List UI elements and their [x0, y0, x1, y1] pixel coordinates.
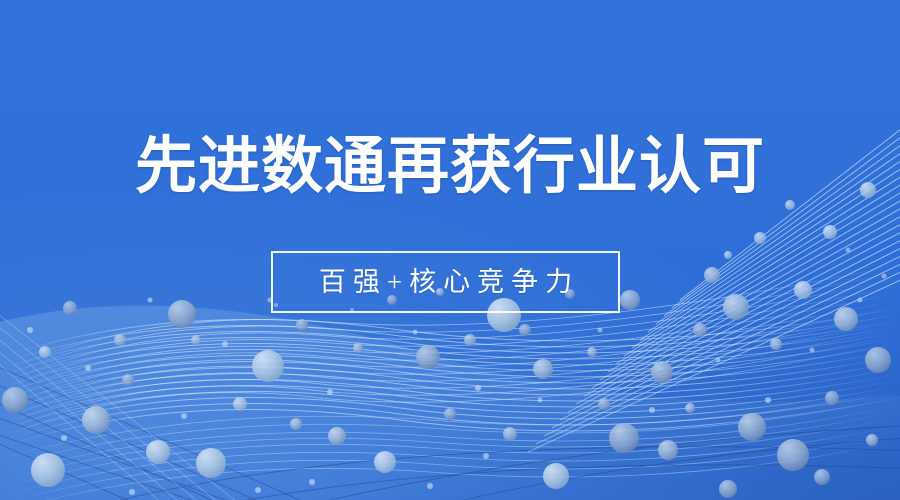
subtitle-text: 百强+核心竞争力: [312, 269, 579, 296]
banner-content: 先进数通再获行业认可 百强+核心竞争力: [0, 0, 900, 500]
promo-banner: 先进数通再获行业认可 百强+核心竞争力: [0, 0, 900, 500]
page-title: 先进数通再获行业认可: [0, 136, 900, 198]
subtitle-frame: 百强+核心竞争力: [271, 251, 620, 313]
